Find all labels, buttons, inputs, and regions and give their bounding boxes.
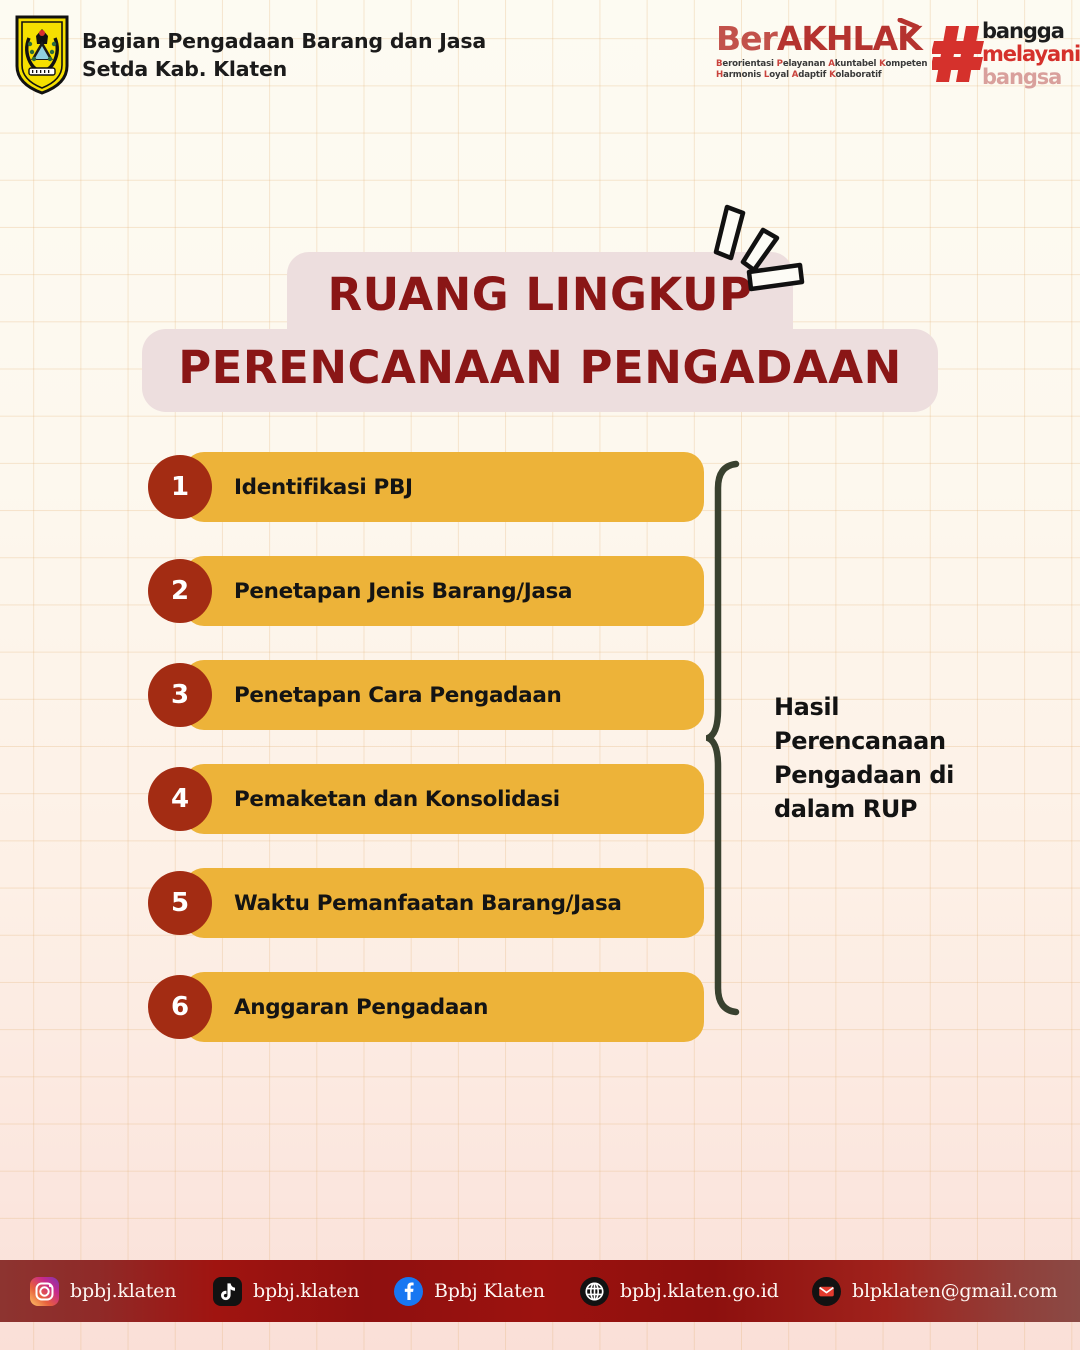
footer-label-facebook: Bpbj Klaten [434, 1280, 545, 1302]
step-row: Identifikasi PBJ1 [148, 452, 708, 522]
bangga-line-1: bangga [982, 20, 1080, 43]
footer-item-facebook[interactable]: Bpbj Klaten [394, 1277, 545, 1306]
berakhlak-prefix: Ber [716, 19, 777, 58]
step-label: Penetapan Jenis Barang/Jasa [234, 579, 572, 604]
step-row: Anggaran Pengadaan6 [148, 972, 708, 1042]
curly-brace-icon [706, 458, 746, 1018]
result-text: Hasil Perencanaan Pengadaan di dalam RUP [774, 690, 1014, 826]
step-bar: Penetapan Jenis Barang/Jasa [184, 556, 704, 626]
footer-item-tiktok[interactable]: bpbj.klaten [213, 1277, 359, 1306]
globe-icon [580, 1277, 609, 1306]
step-number-badge: 3 [148, 663, 212, 727]
page-title-line-2: PERENCANAAN PENGADAAN [142, 329, 938, 412]
bangga-lines: bangga melayani bangsa [982, 20, 1080, 89]
step-row: Waktu Pemanfaatan Barang/Jasa5 [148, 868, 708, 938]
berakhlak-tagline-line2: Harmonis Loyal Adaptif Kolaboratif [716, 70, 916, 81]
berakhlak-tagline: Berorientasi Pelayanan Akuntabel Kompete… [716, 59, 916, 82]
chevron-up-right-icon [896, 18, 922, 44]
klaten-coat-of-arms-icon [14, 14, 70, 96]
footer-label-instagram: bpbj.klaten [70, 1280, 176, 1302]
hashtag-icon [932, 24, 986, 84]
step-bar: Pemaketan dan Konsolidasi [184, 764, 704, 834]
step-number-badge: 5 [148, 871, 212, 935]
step-number-badge: 6 [148, 975, 212, 1039]
footer-item-website[interactable]: bpbj.klaten.go.id [580, 1277, 779, 1306]
bangga-line-3: bangsa [982, 66, 1080, 89]
step-label: Penetapan Cara Pengadaan [234, 683, 561, 708]
bangga-melayani-bangsa-logo: bangga melayani bangsa [932, 20, 1062, 92]
step-bar: Anggaran Pengadaan [184, 972, 704, 1042]
berakhlak-wordmark: BerAKHLAK [716, 22, 916, 55]
steps-list: Identifikasi PBJ1Penetapan Jenis Barang/… [148, 452, 708, 1042]
footer-contact-bar: bpbj.klaten bpbj.klaten Bpbj Klaten [0, 1260, 1080, 1322]
footer-label-tiktok: bpbj.klaten [253, 1280, 359, 1302]
step-label: Identifikasi PBJ [234, 475, 413, 500]
step-label: Waktu Pemanfaatan Barang/Jasa [234, 891, 622, 916]
step-row: Pemaketan dan Konsolidasi4 [148, 764, 708, 834]
page-title: RUANG LINGKUP PERENCANAAN PENGADAAN [0, 252, 1080, 412]
organization-name: Bagian Pengadaan Barang dan Jasa Setda K… [82, 28, 486, 83]
step-label: Anggaran Pengadaan [234, 995, 488, 1020]
step-label: Pemaketan dan Konsolidasi [234, 787, 560, 812]
org-line-2: Setda Kab. Klaten [82, 56, 486, 84]
step-bar: Identifikasi PBJ [184, 452, 704, 522]
step-row: Penetapan Jenis Barang/Jasa2 [148, 556, 708, 626]
email-icon [812, 1277, 841, 1306]
step-bar: Penetapan Cara Pengadaan [184, 660, 704, 730]
footer-label-website: bpbj.klaten.go.id [620, 1280, 779, 1302]
tiktok-icon [213, 1277, 242, 1306]
step-number-badge: 4 [148, 767, 212, 831]
step-bar: Waktu Pemanfaatan Barang/Jasa [184, 868, 704, 938]
footer-label-email: blpklaten@gmail.com [852, 1280, 1057, 1302]
footer-item-instagram[interactable]: bpbj.klaten [30, 1277, 176, 1306]
berakhlak-tagline-line1: Berorientasi Pelayanan Akuntabel Kompete… [716, 59, 916, 70]
instagram-icon [30, 1277, 59, 1306]
step-number-badge: 1 [148, 455, 212, 519]
facebook-icon [394, 1277, 423, 1306]
footer-item-email[interactable]: blpklaten@gmail.com [812, 1277, 1057, 1306]
page-header: Bagian Pengadaan Barang dan Jasa Setda K… [0, 0, 1080, 110]
berakhlak-logo: BerAKHLAK Berorientasi Pelayanan Akuntab… [716, 22, 916, 90]
sparkle-marks-icon [705, 196, 815, 296]
bangga-line-2: melayani [982, 43, 1080, 66]
step-row: Penetapan Cara Pengadaan3 [148, 660, 708, 730]
org-line-1: Bagian Pengadaan Barang dan Jasa [82, 29, 486, 53]
step-number-badge: 2 [148, 559, 212, 623]
